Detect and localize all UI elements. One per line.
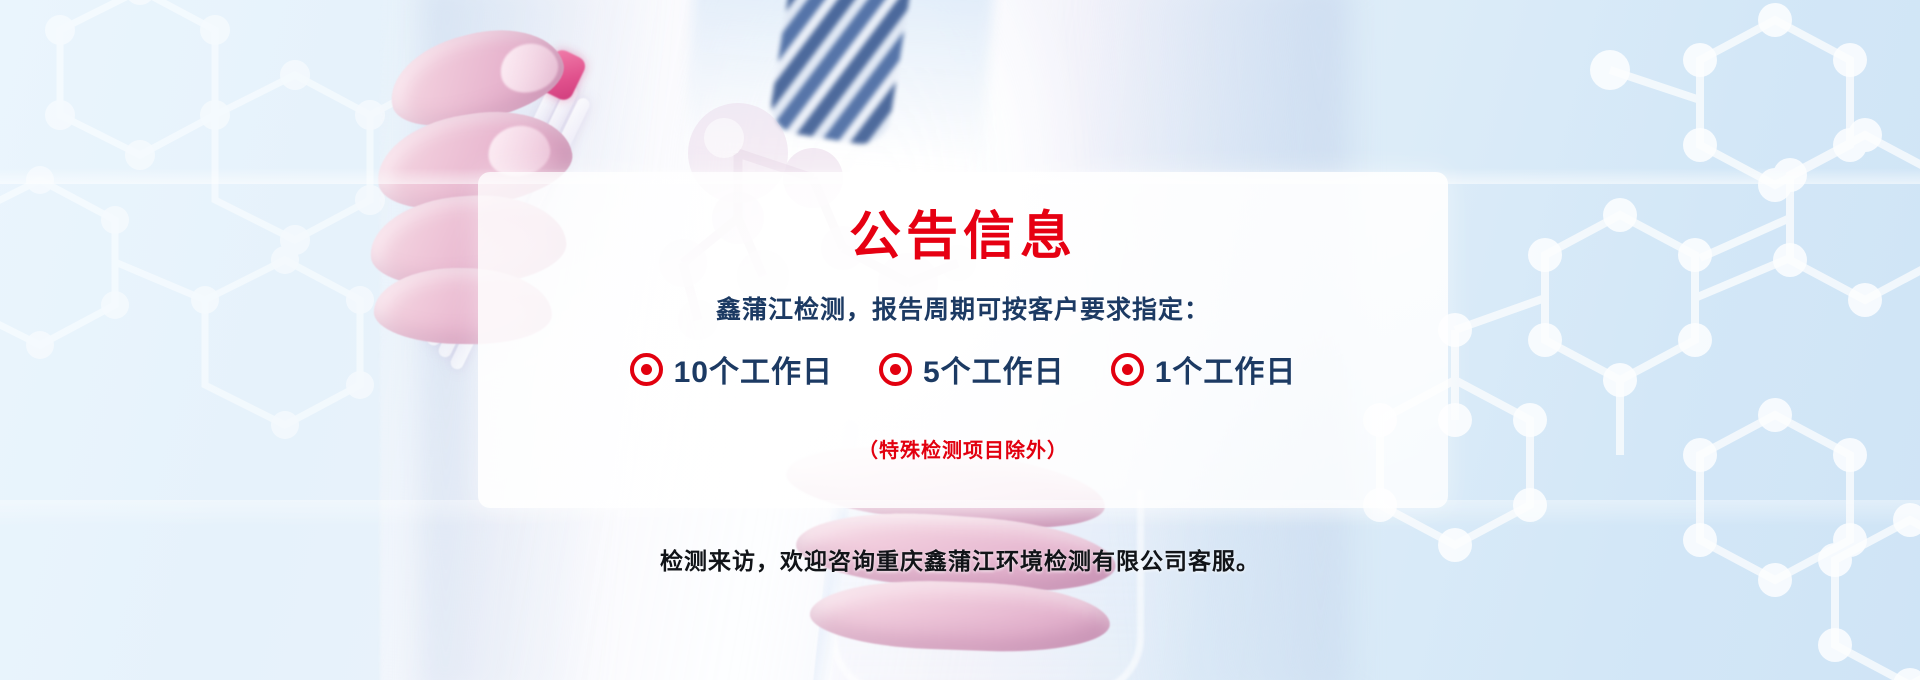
announcement-banner: 公告信息 鑫蒲江检测，报告周期可按客户要求指定： 10个工作日 5个工作日 1个… — [0, 0, 1920, 680]
announcement-panel: 公告信息 鑫蒲江检测，报告周期可按客户要求指定： 10个工作日 5个工作日 1个… — [478, 172, 1448, 508]
turnaround-option-5-days[interactable]: 5个工作日 — [879, 347, 1065, 391]
turnaround-option-1-day[interactable]: 1个工作日 — [1111, 347, 1297, 391]
turnaround-options-list: 10个工作日 5个工作日 1个工作日 — [478, 347, 1448, 391]
panel-subtitle: 鑫蒲江检测，报告周期可按客户要求指定： — [478, 290, 1448, 326]
turnaround-option-label: 1个工作日 — [1155, 347, 1297, 391]
turnaround-option-label: 10个工作日 — [674, 347, 833, 391]
radio-filled-icon — [879, 353, 912, 386]
radio-filled-icon — [630, 353, 663, 386]
turnaround-option-label: 5个工作日 — [923, 347, 1065, 391]
turnaround-option-10-days[interactable]: 10个工作日 — [630, 347, 833, 391]
banner-footer-text: 检测来访，欢迎咨询重庆鑫蒲江环境检测有限公司客服。 — [0, 542, 1920, 576]
panel-exclusion-note: （特殊检测项目除外） — [478, 434, 1448, 463]
radio-filled-icon — [1111, 353, 1144, 386]
page-title: 公告信息 — [478, 194, 1448, 269]
